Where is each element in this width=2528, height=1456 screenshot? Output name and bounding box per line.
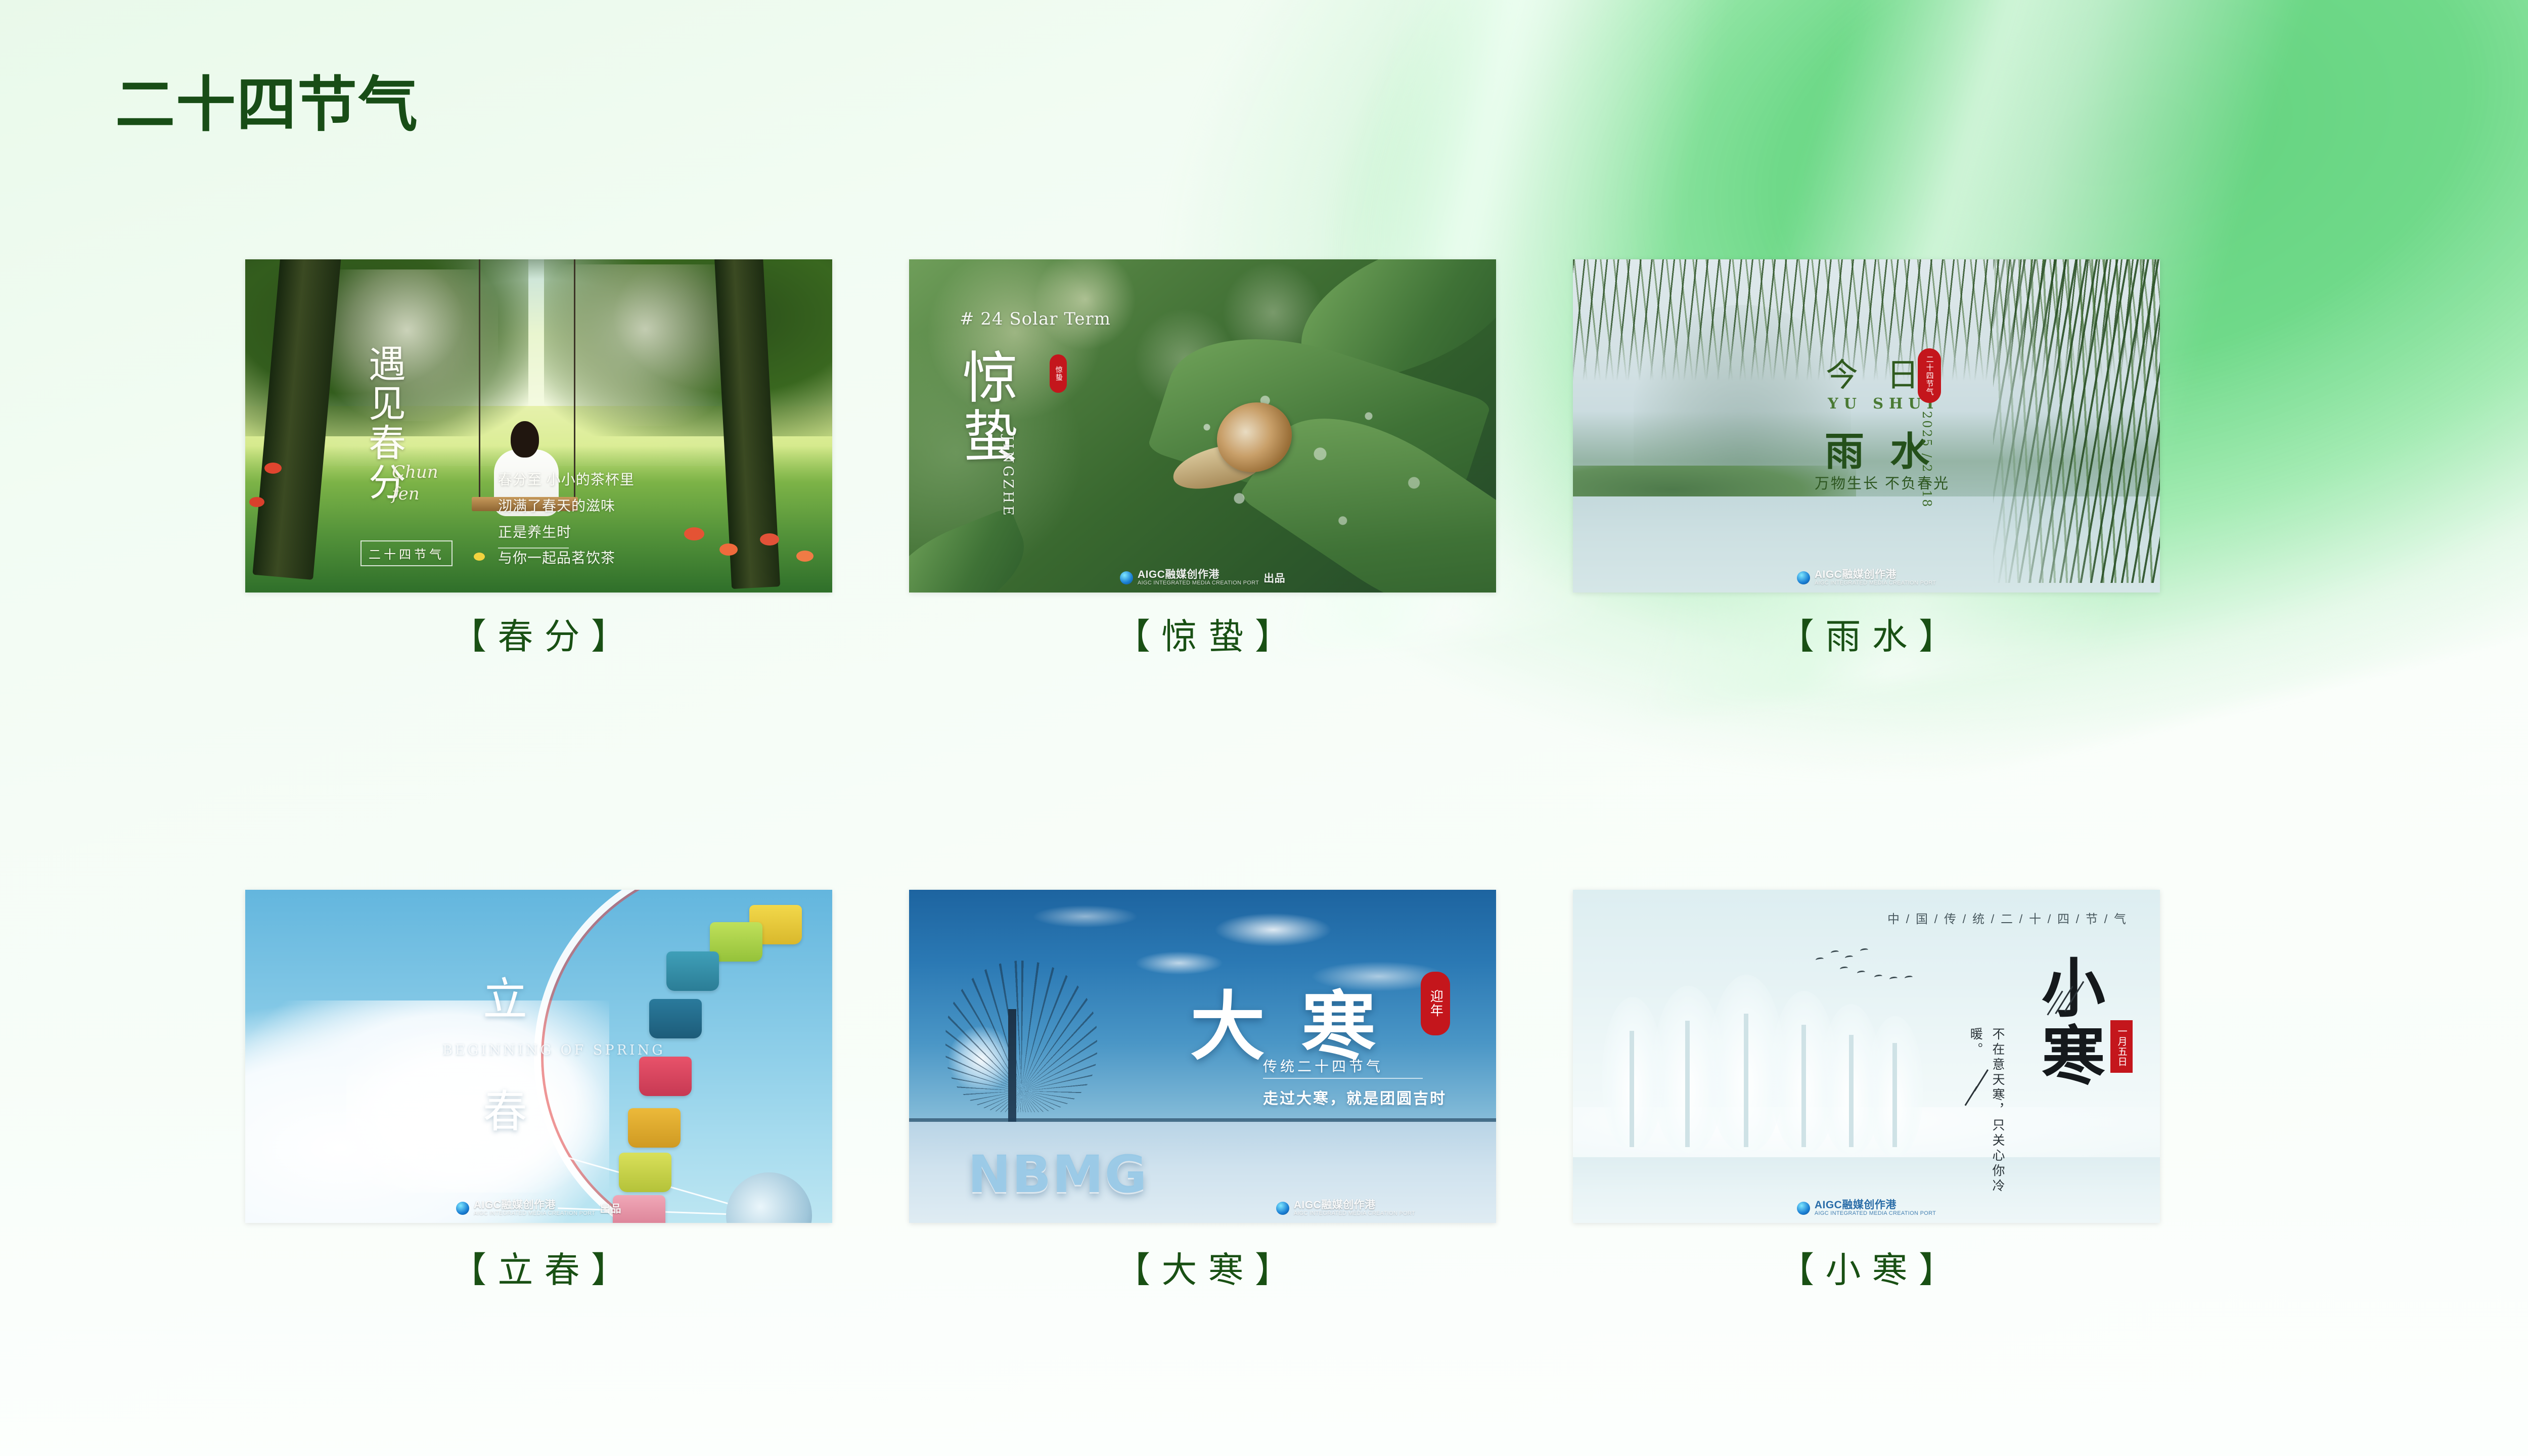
bird-icon — [1905, 975, 1913, 980]
bird-icon — [1831, 950, 1839, 955]
card-caption-chunfen: 【 春 分 】 — [245, 619, 832, 654]
solar-term-grid: 遇见春分 Chunfen 二十四节气 春分至 小小的茶杯里沏满了春天的滋味正是养… — [245, 259, 2343, 1288]
person-head — [511, 421, 539, 458]
grid-cell-xiaohan: 中 / 国 / 传 / 统 / 二 / 十 / 四 / 节 / 气 小寒 一月五… — [1573, 890, 2160, 1288]
card-caption-yushui: 【 雨 水 】 — [1573, 619, 2160, 654]
grid-cell-dahan: NBMG 大 寒 迎年 传统二十四节气 走过大寒，就是团圆吉时 AIGC融媒创作… — [909, 890, 1496, 1288]
card-image-jingzhe[interactable]: # 24 Solar Term 惊蛰 惊蛰 JINGZHE AIGC融媒创作港 … — [909, 259, 1496, 593]
bare-tree-trunk — [1008, 1009, 1016, 1130]
card-caption-dahan: 【 大 寒 】 — [909, 1252, 1496, 1288]
snow-tree-trunk — [1892, 1043, 1897, 1147]
ferris-wheel-cabin — [639, 1057, 692, 1096]
ferris-wheel-cabin — [613, 1195, 665, 1223]
card-caption-xiaohan: 【 小 寒 】 — [1573, 1252, 2160, 1288]
grid-cell-lichun: 立 BEGINNING OF SPRING 春 AIGC融媒创作港 AIGC I… — [245, 890, 832, 1288]
grid-cell-yushui: 今 日 YU SHUI 雨 水 二十四节气 2025 / 2 / 18 万物生长… — [1573, 259, 2160, 654]
seal-stamp: 迎年 — [1421, 972, 1450, 1035]
ferris-wheel-cabin — [619, 1153, 671, 1192]
card-pinyin: JINGZHE — [1000, 435, 1016, 518]
flower-red-1 — [264, 463, 282, 474]
flower-red-5 — [760, 533, 779, 545]
flower-red-6 — [796, 551, 814, 562]
card-subtitle-1: 传统二十四节气 — [1263, 1056, 1383, 1076]
card-caption-jingzhe: 【 惊 蛰 】 — [909, 619, 1496, 654]
card-subtitle-2: 走过大寒，就是团圆吉时 — [1263, 1086, 1447, 1108]
blossom-cluster-left — [316, 269, 498, 421]
snow-tree-trunk — [1849, 1035, 1854, 1147]
flower-red-2 — [249, 497, 264, 507]
bird-icon — [1816, 957, 1824, 962]
card-subtitle: 不在意天寒，只关心你冷暖。 — [1964, 1027, 2009, 1223]
reflection-water-layer — [1573, 1157, 2160, 1223]
card-today-label: 今 日 — [1826, 349, 1928, 396]
snow-tree-trunk — [1801, 1025, 1806, 1147]
ice-letters: NBMG — [968, 1145, 1148, 1205]
bird-icon — [1889, 976, 1898, 981]
flower-yellow-1 — [474, 553, 485, 561]
card-image-xiaohan[interactable]: 中 / 国 / 传 / 统 / 二 / 十 / 四 / 节 / 气 小寒 一月五… — [1573, 890, 2160, 1223]
swing-rope-left — [479, 259, 480, 503]
card-title-line1: 立 — [483, 964, 528, 1028]
card-poem: 春分至 小小的茶杯里沏满了春天的滋味正是养生时与你一起品茗饮茶 — [498, 467, 635, 571]
card-pinyin: Chunfen — [392, 462, 438, 505]
card-image-yushui[interactable]: 今 日 YU SHUI 雨 水 二十四节气 2025 / 2 / 18 万物生长… — [1573, 259, 2160, 593]
card-term-name: 雨 水 — [1825, 420, 1935, 477]
card-title: 小寒 — [2035, 954, 2100, 1090]
card-header-label: 中 / 国 / 传 / 统 / 二 / 十 / 四 / 节 / 气 — [1887, 909, 2128, 927]
card-title-line2: 春 — [483, 1076, 528, 1140]
willow-branches-right — [1993, 259, 2160, 583]
card-hashtag: # 24 Solar Term — [960, 309, 1111, 329]
grid-cell-chunfen: 遇见春分 Chunfen 二十四节气 春分至 小小的茶杯里沏满了春天的滋味正是养… — [245, 259, 832, 654]
snow-tree-trunk — [1744, 1014, 1748, 1147]
page-title: 二十四节气 — [115, 75, 419, 134]
bird-icon — [1857, 970, 1866, 975]
seal-stamp: 二十四节气 — [1918, 348, 1941, 403]
seal-stamp: 惊蛰 — [1050, 354, 1067, 393]
card-image-lichun[interactable]: 立 BEGINNING OF SPRING 春 AIGC融媒创作港 AIGC I… — [245, 890, 832, 1223]
bare-tree-crown — [945, 961, 1097, 1112]
card-date: 2025 / 2 / 18 — [1920, 411, 1934, 509]
snow-tree-trunk — [1630, 1031, 1634, 1147]
grid-cell-jingzhe: # 24 Solar Term 惊蛰 惊蛰 JINGZHE AIGC融媒创作港 … — [909, 259, 1496, 654]
card-english-title: BEGINNING OF SPRING — [442, 1042, 665, 1058]
flower-red-4 — [719, 543, 738, 556]
ferris-wheel-cabin — [666, 951, 719, 991]
bird-icon — [1860, 948, 1869, 953]
snow-tree-trunk — [1685, 1021, 1690, 1147]
poem-underline — [498, 548, 569, 549]
card-tag: 二十四节气 — [360, 540, 453, 566]
card-caption-lichun: 【 立 春 】 — [245, 1252, 832, 1288]
ferris-wheel-cabin — [649, 999, 702, 1038]
flower-red-3 — [684, 527, 704, 540]
bird-icon — [1874, 974, 1883, 979]
bird-icon — [1845, 955, 1854, 960]
bird-flock — [1816, 946, 1927, 982]
ferris-wheel-cabin — [628, 1108, 681, 1148]
card-image-chunfen[interactable]: 遇见春分 Chunfen 二十四节气 春分至 小小的茶杯里沏满了春天的滋味正是养… — [245, 259, 832, 593]
seal-stamp: 一月五日 — [2110, 1020, 2133, 1073]
card-image-dahan[interactable]: NBMG 大 寒 迎年 传统二十四节气 走过大寒，就是团圆吉时 AIGC融媒创作… — [909, 890, 1496, 1223]
card-subtitle: 万物生长 不负春光 — [1815, 472, 1950, 493]
bird-icon — [1840, 966, 1848, 971]
subtitle-divider — [1263, 1078, 1423, 1079]
